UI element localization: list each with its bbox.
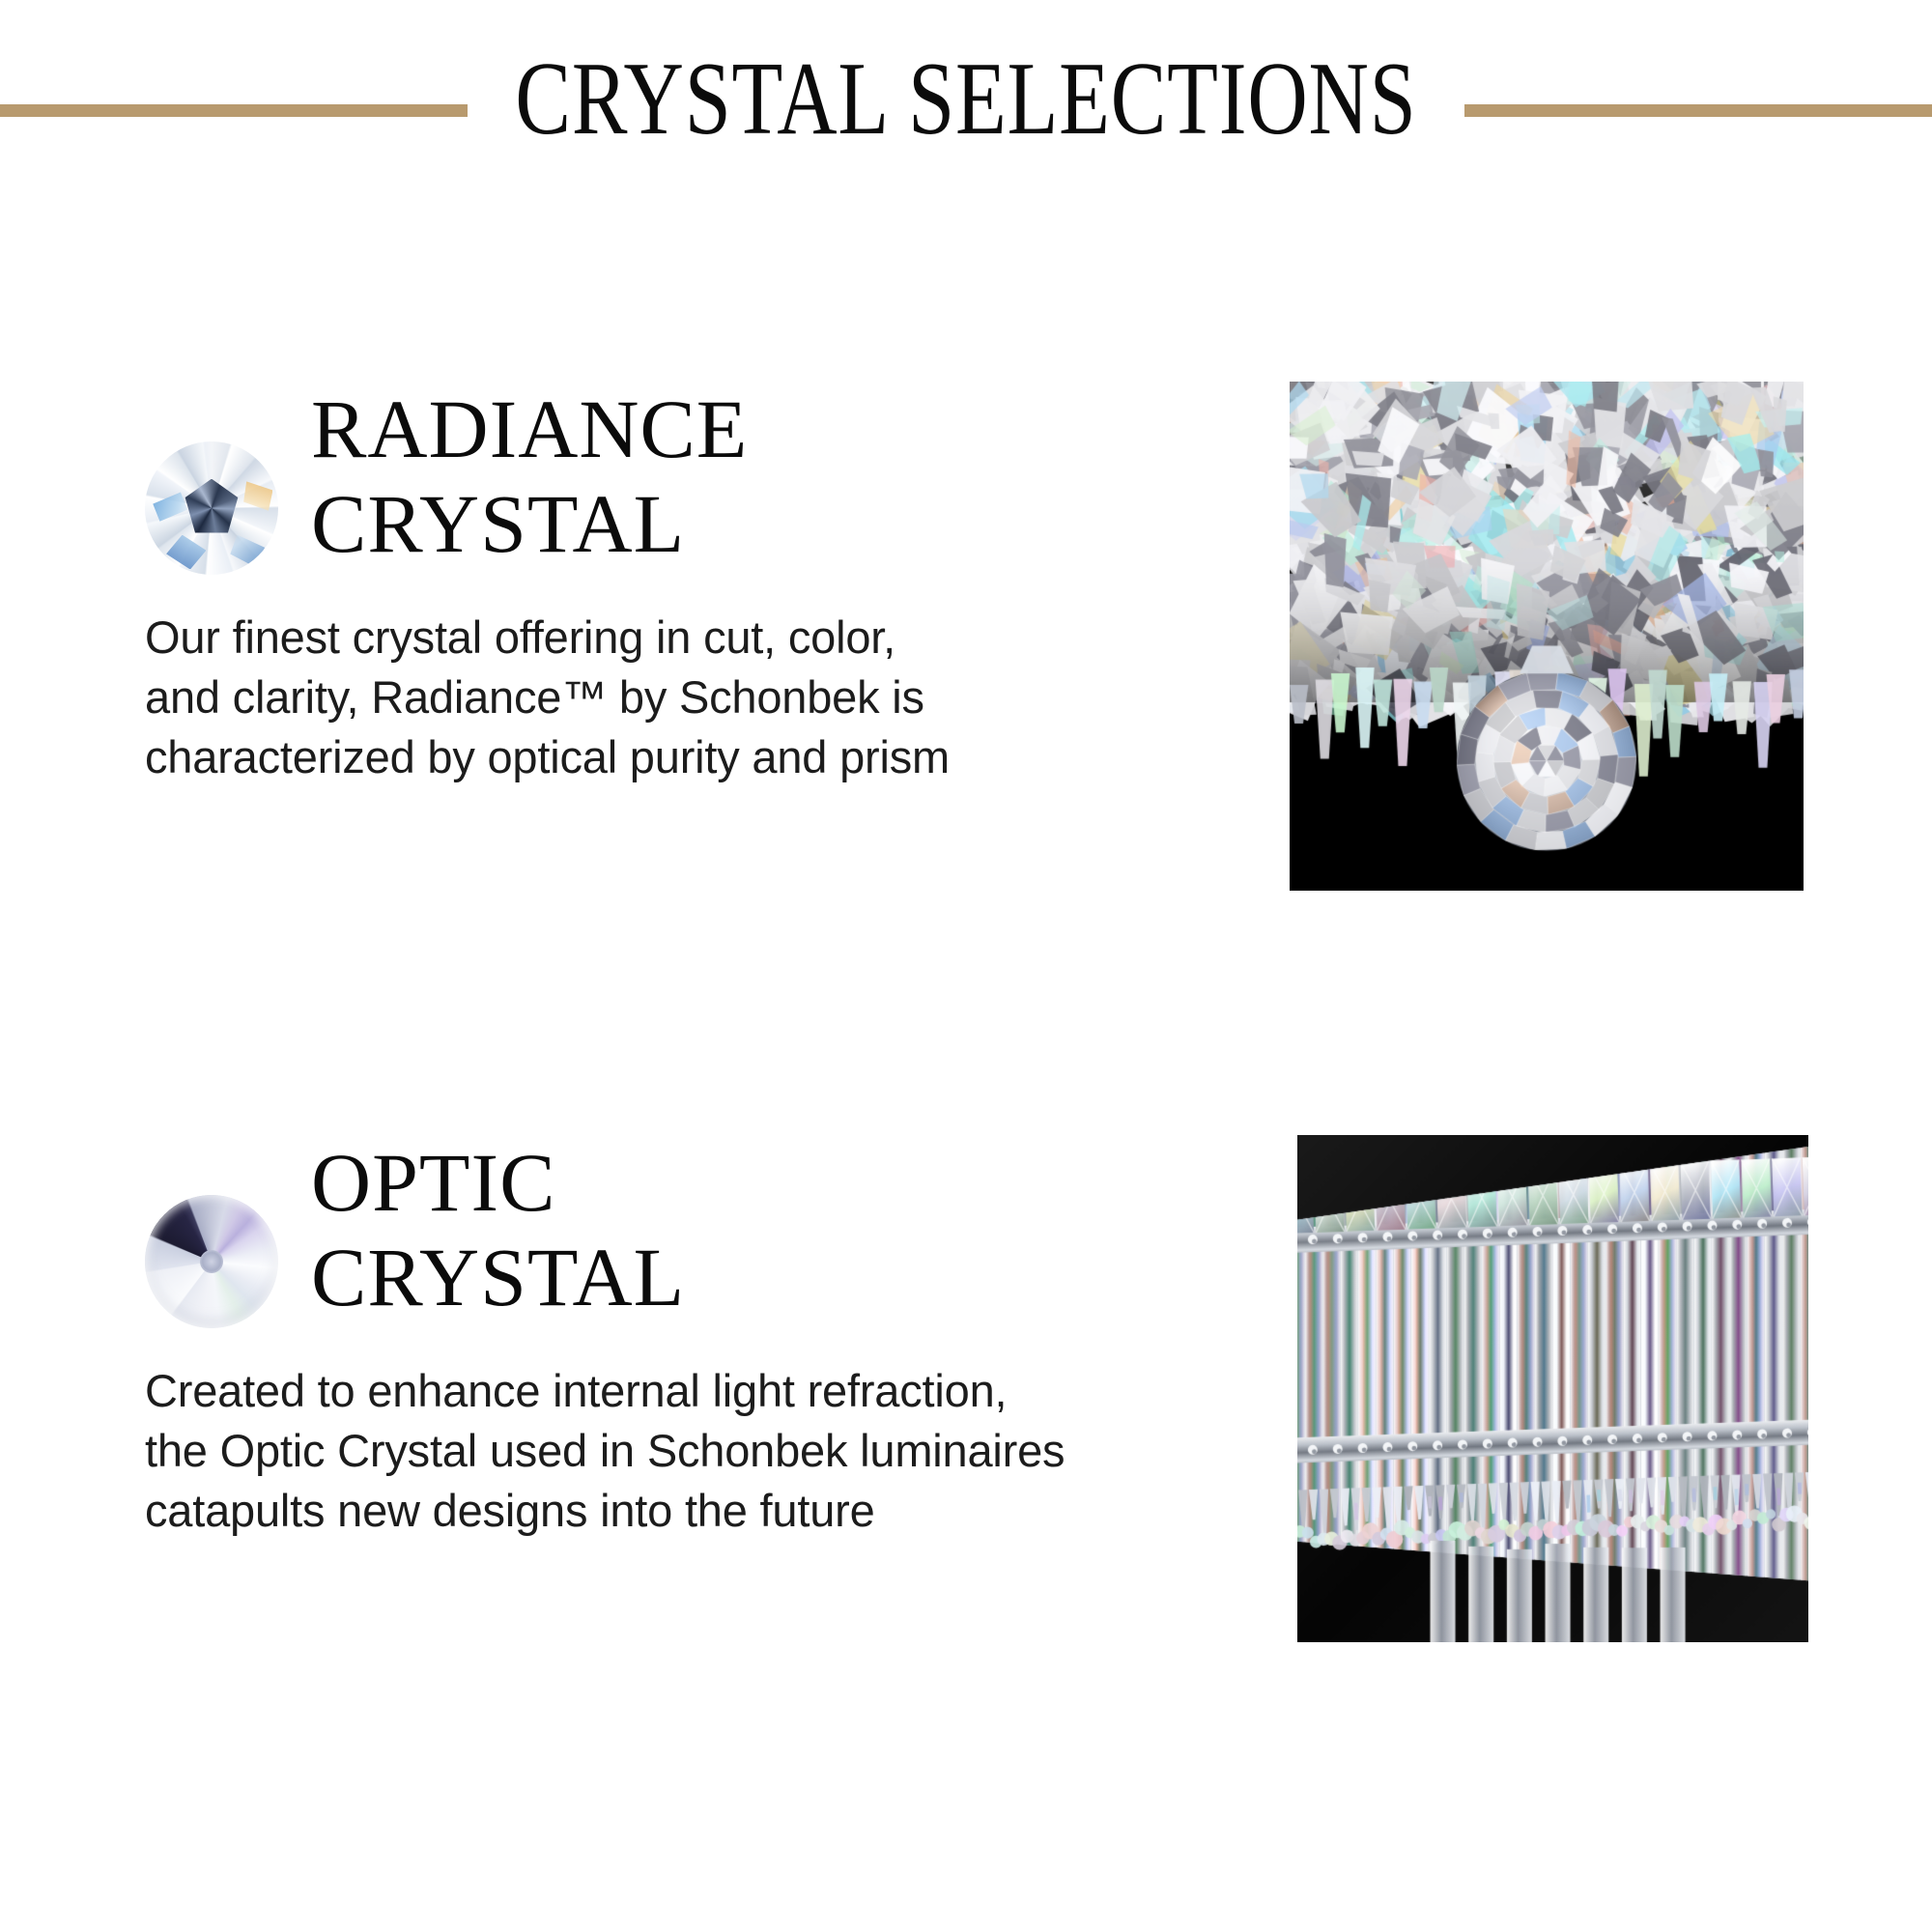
radiance-body-text: Our finest crystal offering in cut, colo…	[145, 608, 1227, 787]
optic-text-column: OPTIC CRYSTAL Created to enhance interna…	[145, 1135, 1227, 1541]
optic-crystal-chandelier-photo	[1297, 1135, 1808, 1642]
optic-heading-row: OPTIC CRYSTAL	[145, 1135, 1227, 1328]
optic-body-line-1: Created to enhance internal light refrac…	[145, 1361, 1227, 1421]
optic-crystal-gem-icon	[145, 1195, 278, 1328]
radiance-crystal-chandelier-photo	[1290, 382, 1804, 891]
optic-heading-line-1: OPTIC	[311, 1135, 685, 1230]
page-header: CRYSTAL SELECTIONS	[0, 0, 1932, 184]
optic-heading: OPTIC CRYSTAL	[311, 1135, 685, 1324]
radiance-heading-line-2: CRYSTAL	[311, 476, 748, 571]
gem-facet-gold-right-icon	[243, 481, 272, 510]
crystal-selections-page: CRYSTAL SELECTIONS RADIANCE CRYSTAL Our …	[0, 0, 1932, 1932]
radiance-body-line-3: characterized by optical purity and pris…	[145, 727, 1227, 787]
page-title: CRYSTAL SELECTIONS	[193, 27, 1739, 172]
radiance-body-line-2: and clarity, Radiance™ by Schonbek is	[145, 668, 1227, 727]
optic-body-line-3: catapults new designs into the future	[145, 1481, 1227, 1541]
gem-rim-icon	[145, 1195, 278, 1328]
radiance-heading-row: RADIANCE CRYSTAL	[145, 382, 1227, 575]
optic-heading-line-2: CRYSTAL	[311, 1230, 685, 1324]
radiance-crystal-gem-icon	[145, 441, 278, 575]
radiance-photo-canvas	[1290, 382, 1804, 891]
radiance-heading: RADIANCE CRYSTAL	[311, 382, 748, 571]
gem-facet-blue-bottom-right-icon	[230, 535, 265, 567]
gem-facet-blue-bottom-left-icon	[166, 535, 206, 570]
optic-photo-canvas	[1297, 1135, 1808, 1642]
optic-body-line-2: the Optic Crystal used in Schonbek lumin…	[145, 1421, 1227, 1481]
gem-core-icon	[183, 479, 241, 538]
optic-body-text: Created to enhance internal light refrac…	[145, 1361, 1227, 1541]
radiance-text-column: RADIANCE CRYSTAL Our finest crystal offe…	[145, 382, 1227, 787]
radiance-body-line-1: Our finest crystal offering in cut, colo…	[145, 608, 1227, 668]
gem-facet-blue-left-icon	[153, 492, 187, 521]
radiance-heading-line-1: RADIANCE	[311, 382, 748, 476]
